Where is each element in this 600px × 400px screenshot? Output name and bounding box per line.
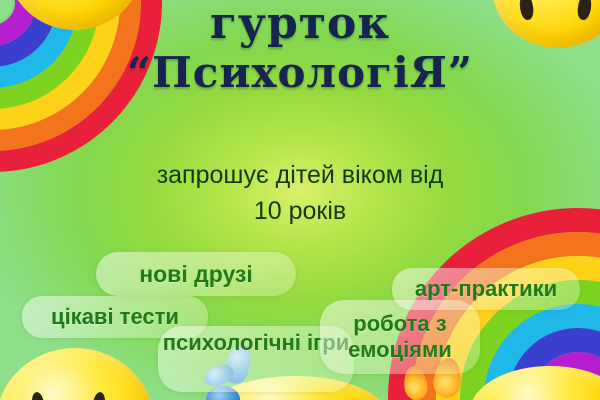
feature-label: робота з емоціями [320,311,480,362]
poster-title: гурток “ПсихологіЯ” [0,2,600,94]
poster-subtitle: запрошує дітей віком від 10 років [0,158,600,229]
feature-label: нові друзі [139,261,253,288]
feature-label: цікаві тести [51,304,179,330]
smiley-eye-right [92,391,107,400]
subtitle-line-1: запрошує дітей віком від [0,158,600,194]
title-line-2: “ПсихологіЯ” [0,52,600,94]
title-line-1: гурток [0,2,600,46]
poster-canvas: гурток “ПсихологіЯ” запрошує дітей віком… [0,0,600,400]
smiley-eye-left [31,391,46,400]
feature-label: арт-практики [415,276,557,302]
feature-bubble-emotions: робота з емоціями [320,300,480,374]
subtitle-line-2: 10 років [0,194,600,230]
smiley-bottom-left-icon [0,348,154,400]
feature-bubble-new-friends: нові друзі [96,252,296,296]
